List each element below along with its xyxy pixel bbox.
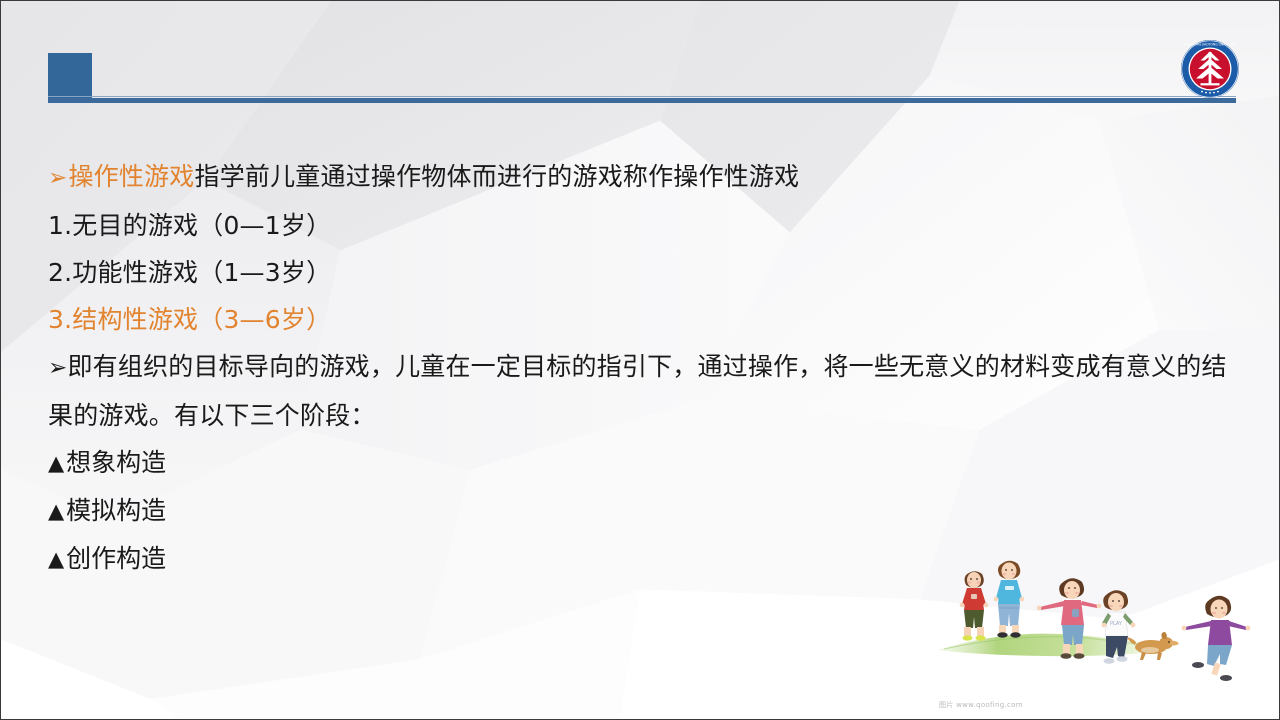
triangle-bullet-icon: ▲ [48, 488, 64, 535]
svg-text:SHANDONG JIAOTONG UNIVERSITY: SHANDONG JIAOTONG UNIVERSITY [1183, 43, 1237, 47]
lead-line: ➢操作性游戏指学前儿童通过操作物体而进行的游戏称作操作性游戏 [48, 153, 1238, 202]
lead-highlight: 操作性游戏 [68, 162, 194, 191]
triangle-bullet-icon: ▲ [48, 536, 64, 583]
svg-text:PLAY: PLAY [1110, 621, 1123, 627]
university-seal-logo: SHANDONG JIAOTONG UNIVERSITY [1180, 39, 1240, 99]
child-blue-shirt [994, 561, 1025, 638]
stage-item-1: ▲想象构造 [48, 439, 1238, 487]
triangle-bullet-icon: ▲ [48, 440, 64, 487]
child-purple-shirt [1182, 596, 1251, 681]
stage-item-2: ▲模拟构造 [48, 487, 1238, 535]
stage-item-1-text: 想象构造 [66, 448, 166, 477]
numbered-item-1-text: 1.无目的游戏（0—1岁） [48, 211, 331, 240]
numbered-item-2-text: 2.功能性游戏（1—3岁） [48, 258, 331, 287]
stage-item-2-text: 模拟构造 [66, 496, 166, 525]
definition-paragraph-text: 即有组织的目标导向的游戏，儿童在一定目标的指引下，通过操作，将一些无意义的材料变… [48, 352, 1227, 430]
definition-paragraph: ➢即有组织的目标导向的游戏，儿童在一定目标的指引下，通过操作，将一些无意义的材料… [48, 343, 1238, 439]
numbered-item-1: 1.无目的游戏（0—1岁） [48, 202, 1238, 249]
numbered-item-2: 2.功能性游戏（1—3岁） [48, 249, 1238, 296]
presentation-slide: SHANDONG JIAOTONG UNIVERSITY ➢操作性游戏指学前儿童… [0, 0, 1280, 720]
header-rule-hairline [48, 96, 1236, 97]
header-accent-square [48, 53, 92, 98]
child-red-shirt [960, 571, 989, 640]
illustration-watermark: 图片 www.qoofing.com [939, 700, 1023, 710]
stage-item-3-text: 创作构造 [66, 544, 166, 573]
numbered-item-3-text: 3.结构性游戏（3—6岁） [48, 305, 331, 334]
slide-body: ➢操作性游戏指学前儿童通过操作物体而进行的游戏称作操作性游戏 1.无目的游戏（0… [48, 153, 1238, 583]
header-rule [48, 98, 1236, 103]
children-playing-illustration: PLAY [926, 553, 1276, 718]
arrow-bullet-icon-2: ➢ [48, 355, 67, 381]
lead-rest: 指学前儿童通过操作物体而进行的游戏称作操作性游戏 [195, 162, 800, 191]
numbered-item-3: 3.结构性游戏（3—6岁） [48, 296, 1238, 343]
arrow-bullet-icon: ➢ [48, 155, 67, 202]
